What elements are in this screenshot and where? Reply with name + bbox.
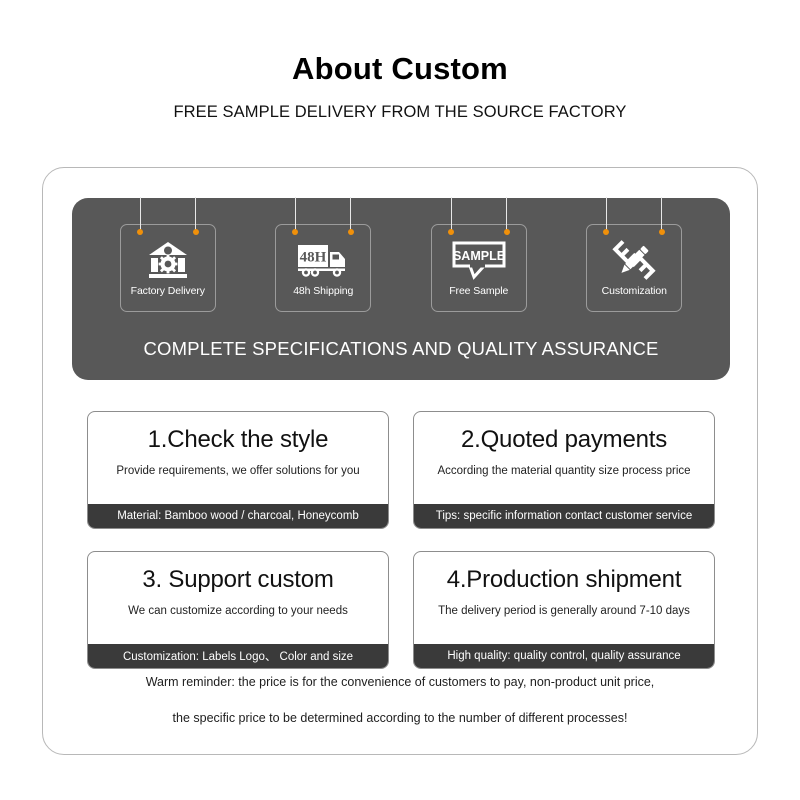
step-footer: Customization: Labels Logo、 Color and si… <box>88 644 388 668</box>
warm-reminder: Warm reminder: the price is for the conv… <box>43 676 757 724</box>
badge-string-left <box>451 197 452 230</box>
badge-pin-left <box>292 229 298 235</box>
feature-badge-list: Factory Delivery 48H <box>72 198 730 308</box>
badge-free-sample[interactable]: SAMPLE Free Sample <box>431 224 527 312</box>
badge-string-left <box>606 197 607 230</box>
page-header: About Custom FREE SAMPLE DELIVERY FROM T… <box>0 0 800 122</box>
badge-customization[interactable]: Customization <box>586 224 682 312</box>
step-description: We can customize according to your needs <box>128 605 348 617</box>
badge-string-right <box>350 197 351 230</box>
sample-icon-text: SAMPLE <box>453 249 505 263</box>
page-title: About Custom <box>0 52 800 86</box>
feature-banner: Factory Delivery 48H <box>72 198 730 380</box>
step-footer: Material: Bamboo wood / charcoal, Honeyc… <box>88 504 388 528</box>
sample-speech-bubble-icon: SAMPLE <box>452 238 506 282</box>
content-container: Factory Delivery 48H <box>42 167 758 755</box>
badge-label: 48h Shipping <box>293 285 353 297</box>
delivery-truck-48h-icon: 48H <box>297 238 349 282</box>
step-card[interactable]: 3. Support custom We can customize accor… <box>87 551 389 669</box>
step-title: 4.Production shipment <box>447 566 682 594</box>
step-card[interactable]: 2.Quoted payments According the material… <box>413 411 715 529</box>
badge-pin-right <box>348 229 354 235</box>
badge-pin-right <box>659 229 665 235</box>
badge-string-right <box>661 197 662 230</box>
badge-pin-left <box>137 229 143 235</box>
badge-string-left <box>140 197 141 230</box>
svg-text:48H: 48H <box>300 250 327 266</box>
badge-pin-left <box>603 229 609 235</box>
banner-caption: COMPLETE SPECIFICATIONS AND QUALITY ASSU… <box>72 338 730 360</box>
badge-label: Free Sample <box>449 285 508 297</box>
about-custom-page: About Custom FREE SAMPLE DELIVERY FROM T… <box>0 0 800 800</box>
badge-pin-right <box>504 229 510 235</box>
badge-factory-delivery[interactable]: Factory Delivery <box>120 224 216 312</box>
step-title: 2.Quoted payments <box>461 426 667 454</box>
badge-pin-right <box>193 229 199 235</box>
step-card-grid: 1.Check the style Provide requirements, … <box>87 411 715 669</box>
step-description: Provide requirements, we offer solutions… <box>116 465 359 477</box>
page-subtitle: FREE SAMPLE DELIVERY FROM THE SOURCE FAC… <box>0 103 800 122</box>
step-description: The delivery period is generally around … <box>438 605 690 617</box>
step-description: According the material quantity size pro… <box>437 465 690 477</box>
badge-label: Factory Delivery <box>131 285 205 297</box>
factory-building-gear-icon <box>147 238 189 282</box>
badge-48h-shipping[interactable]: 48H 48h Shipping <box>275 224 371 312</box>
step-card[interactable]: 1.Check the style Provide requirements, … <box>87 411 389 529</box>
step-footer: High quality: quality control, quality a… <box>414 644 714 668</box>
badge-string-left <box>295 197 296 230</box>
badge-string-right <box>506 197 507 230</box>
pencil-ruler-customization-icon <box>612 238 656 282</box>
badge-label: Customization <box>602 285 667 297</box>
badge-string-right <box>195 197 196 230</box>
step-footer: Tips: specific information contact custo… <box>414 504 714 528</box>
step-title: 3. Support custom <box>142 566 333 594</box>
step-title: 1.Check the style <box>148 426 329 454</box>
reminder-line-1: Warm reminder: the price is for the conv… <box>43 676 757 689</box>
reminder-line-2: the specific price to be determined acco… <box>43 712 757 725</box>
badge-pin-left <box>448 229 454 235</box>
step-card[interactable]: 4.Production shipment The delivery perio… <box>413 551 715 669</box>
